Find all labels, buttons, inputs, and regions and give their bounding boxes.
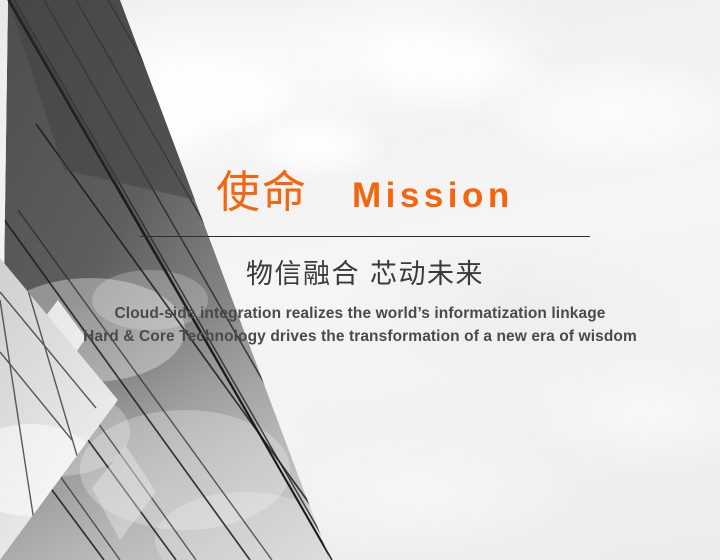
- mission-title-chinese: 使命: [216, 168, 308, 218]
- mission-description: Cloud-side integration realizes the worl…: [60, 302, 660, 348]
- title-divider-rule: [140, 236, 590, 237]
- mission-title-english: Mission: [352, 171, 514, 221]
- mission-subtitle-chinese: 物信融合 芯动未来: [140, 256, 590, 294]
- description-line-1: Cloud-side integration realizes the worl…: [60, 302, 660, 325]
- banner-content: 使命 Mission 物信融合 芯动未来 Cloud-side integrat…: [0, 0, 720, 560]
- mission-heading: 使命 Mission: [140, 168, 590, 221]
- description-line-2: Hard & Core Technology drives the transf…: [60, 325, 660, 348]
- mission-banner: 使命 Mission 物信融合 芯动未来 Cloud-side integrat…: [0, 0, 720, 560]
